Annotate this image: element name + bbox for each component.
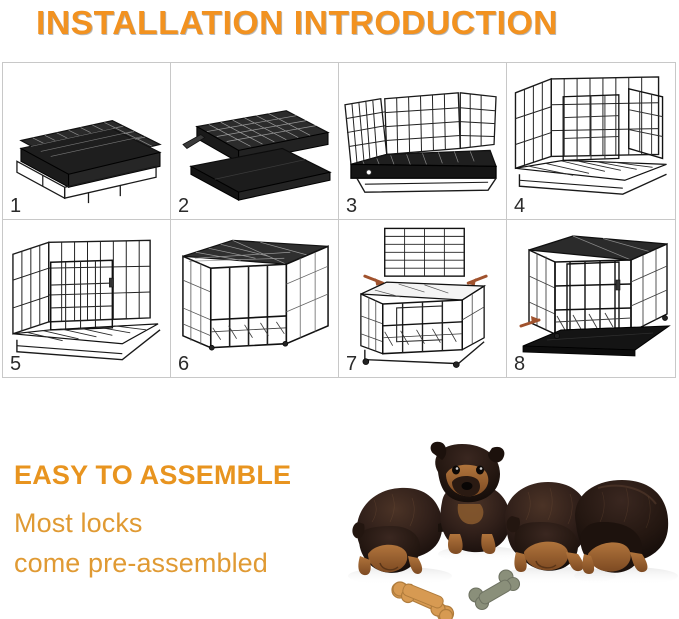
step-cell-6: 6 (171, 220, 339, 377)
step-cell-5: 5 (3, 220, 171, 377)
step-3-illustration (339, 63, 506, 219)
step-number: 6 (178, 353, 189, 375)
step-cell-4: 4 (507, 63, 675, 220)
promo-text-block: EASY TO ASSEMBLE Most locks come pre-ass… (14, 458, 344, 583)
step-4-illustration (507, 63, 675, 219)
puppies-with-treats-photo (330, 430, 679, 619)
installation-step-grid: 1 (2, 62, 676, 378)
step-cell-1: 1 (3, 63, 171, 220)
step-cell-2: 2 (171, 63, 339, 220)
promo-subline-2: come pre-assembled (14, 543, 344, 583)
promo-subline-1: Most locks (14, 503, 344, 543)
step-number: 7 (346, 353, 357, 375)
promo-section: EASY TO ASSEMBLE Most locks come pre-ass… (0, 430, 679, 619)
step-number: 5 (10, 353, 21, 375)
step-cell-7: 7 (339, 220, 507, 377)
puppy-right-center (505, 482, 589, 572)
page-title: INSTALLATION INTRODUCTION (36, 1, 658, 45)
step-7-illustration (339, 220, 506, 377)
step-6-illustration (171, 220, 338, 377)
step-5-illustration (3, 220, 170, 377)
step-number: 1 (10, 195, 21, 217)
step-8-illustration (507, 220, 675, 377)
step-2-illustration (171, 63, 338, 219)
step-number: 8 (514, 353, 525, 375)
step-1-illustration (3, 63, 170, 219)
step-cell-8: 8 (507, 220, 675, 377)
step-cell-3: 3 (339, 63, 507, 220)
step-number: 4 (514, 195, 525, 217)
step-number: 2 (178, 195, 189, 217)
step-number: 3 (346, 195, 357, 217)
promo-headline: EASY TO ASSEMBLE (14, 458, 344, 492)
